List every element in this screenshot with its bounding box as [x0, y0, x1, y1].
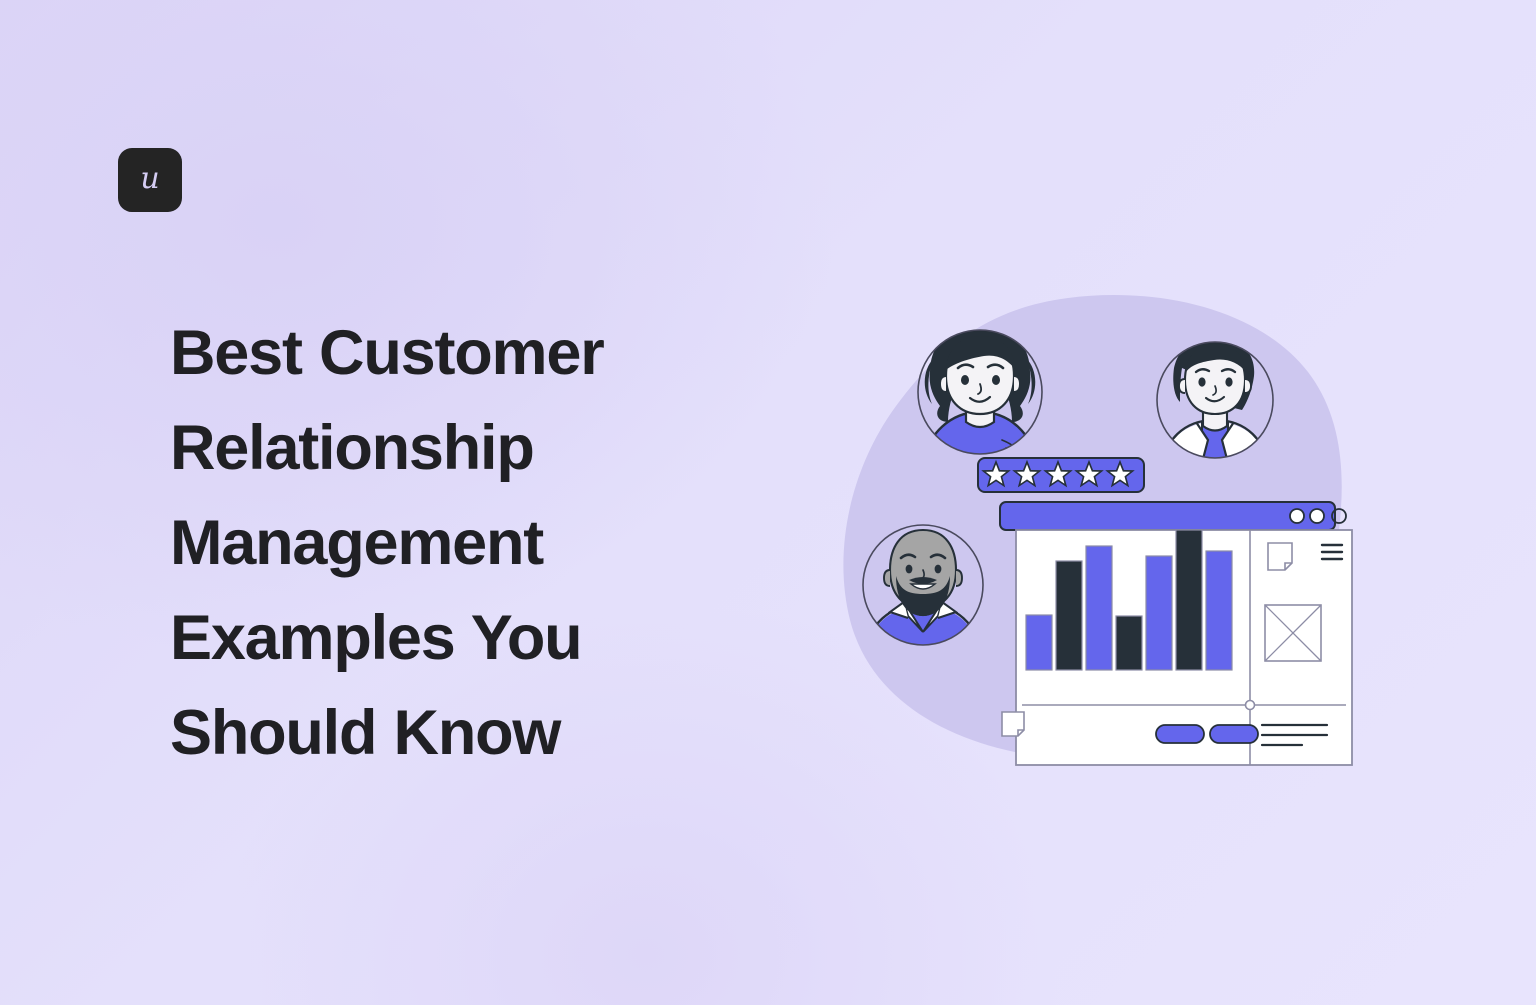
rating-badge	[978, 458, 1144, 492]
document-icon-corner	[1002, 712, 1024, 736]
bar	[1056, 561, 1082, 670]
bar	[1026, 615, 1052, 670]
bar	[1146, 556, 1172, 670]
bar	[1206, 551, 1232, 670]
window-dot	[1290, 509, 1304, 523]
hero-canvas: u Best Customer Relationship Management …	[0, 0, 1536, 1005]
brand-logo[interactable]: u	[118, 148, 182, 212]
window-dot	[1310, 509, 1324, 523]
window-action-button	[1210, 725, 1258, 743]
brand-logo-glyph: u	[140, 164, 159, 194]
image-placeholder-icon	[1265, 605, 1321, 661]
dashboard-window	[1000, 502, 1352, 765]
page-title: Best Customer Relationship Management Ex…	[170, 306, 690, 781]
bar	[1116, 616, 1142, 670]
window-titlebar	[1000, 502, 1335, 530]
divider-handle	[1246, 701, 1255, 710]
hero-illustration	[830, 280, 1370, 790]
bar	[1086, 546, 1112, 670]
document-icon-right	[1268, 543, 1292, 570]
window-action-button	[1156, 725, 1204, 743]
bar	[1176, 530, 1202, 670]
